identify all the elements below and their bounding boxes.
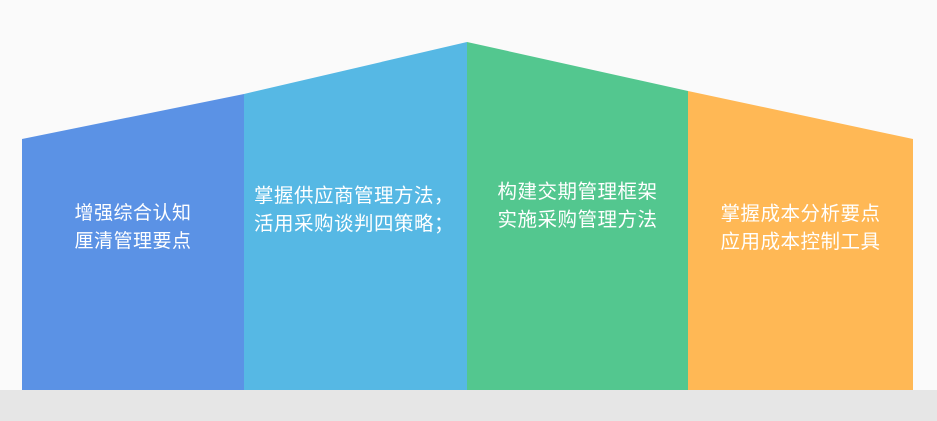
panel-2-shape[interactable]: [244, 42, 467, 390]
roof-diagram: [0, 0, 937, 421]
panel-3-shape[interactable]: [467, 42, 688, 390]
panel-1-shape[interactable]: [22, 94, 244, 390]
panel-4-shape[interactable]: [688, 91, 913, 390]
slide-canvas: 增强综合认知 厘清管理要点 掌握供应商管理方法， 活用采购谈判四策略； 构建交期…: [0, 0, 937, 421]
